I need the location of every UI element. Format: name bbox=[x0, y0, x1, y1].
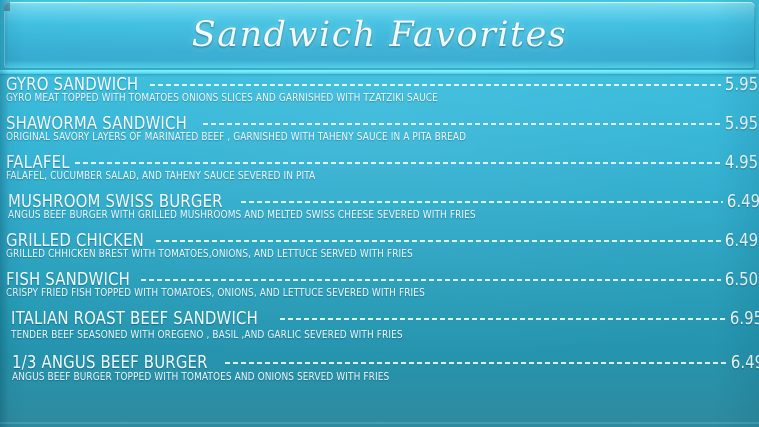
menu-item[interactable]: ITALIAN ROAST BEEF SANDWICH6.95TENDER BE… bbox=[0, 308, 759, 352]
dotted-leader bbox=[141, 275, 721, 285]
menu-item-price: 4.95 bbox=[724, 152, 758, 173]
menu-item[interactable]: MUSHROOM SWISS BURGER6.49ANGUS BEEF BURG… bbox=[0, 191, 759, 230]
menu-item[interactable]: GRILLED CHICKEN6.49GRILLED CHHICKEN BRES… bbox=[0, 230, 759, 269]
dotted-leader bbox=[203, 119, 721, 129]
dotted-leader bbox=[150, 80, 721, 90]
menu-item[interactable]: SHAWORMA SANDWICH5.95ORIGINAL SAVORY LAY… bbox=[0, 113, 759, 152]
menu-item-description: ANGUS BEEF BURGER TOPPED WITH TOMATOES A… bbox=[12, 371, 722, 383]
menu-item-price: 6.49 bbox=[726, 191, 759, 212]
dotted-leader bbox=[225, 358, 727, 368]
menu-item-price: 5.95 bbox=[724, 74, 758, 95]
menu-item[interactable]: 1/3 ANGUS BEEF BURGER6.49ANGUS BEEF BURG… bbox=[0, 352, 759, 394]
menu-board: Sandwich Favorites GYRO SANDWICH5.95GYRO… bbox=[0, 0, 759, 427]
menu-item-line: ITALIAN ROAST BEEF SANDWICH6.95 bbox=[11, 308, 759, 329]
menu-item-name: ITALIAN ROAST BEEF SANDWICH bbox=[11, 308, 258, 329]
menu-item-price: 6.50 bbox=[724, 269, 758, 290]
menu-item-description: TENDER BEEF SEASONED WITH OREGENO , BASI… bbox=[11, 329, 722, 341]
dotted-leader bbox=[241, 197, 723, 207]
bottom-edge-line bbox=[0, 422, 759, 424]
menu-item-price: 5.95 bbox=[724, 113, 758, 134]
dotted-leader bbox=[280, 314, 726, 324]
menu-item-list: GYRO SANDWICH5.95GYRO MEAT TOPPED WITH T… bbox=[0, 74, 759, 394]
menu-item-name: 1/3 ANGUS BEEF BURGER bbox=[12, 352, 208, 373]
menu-item-description: GYRO MEAT TOPPED WITH TOMATOES ONIONS SL… bbox=[6, 92, 721, 104]
dotted-leader bbox=[75, 158, 721, 168]
page-title: Sandwich Favorites bbox=[4, 2, 755, 68]
menu-item-price: 6.95 bbox=[729, 308, 759, 329]
dotted-leader bbox=[156, 236, 721, 246]
menu-item-description: FALAFEL, CUCUMBER SALAD, AND TAHENY SAUC… bbox=[6, 170, 721, 182]
menu-item-description: GRILLED CHHICKEN BREST WITH TOMATOES,ONI… bbox=[6, 248, 721, 260]
menu-header-panel: Sandwich Favorites bbox=[4, 2, 755, 68]
menu-item-price: 6.49 bbox=[724, 230, 758, 251]
menu-item[interactable]: FALAFEL4.95FALAFEL, CUCUMBER SALAD, AND … bbox=[0, 152, 759, 191]
menu-item-price: 6.49 bbox=[730, 352, 759, 373]
menu-item[interactable]: GYRO SANDWICH5.95GYRO MEAT TOPPED WITH T… bbox=[0, 74, 759, 113]
menu-item-description: CRISPY FRIED FISH TOPPED WITH TOMATOES, … bbox=[6, 287, 721, 299]
menu-item-description: ANGUS BEEF BURGER WITH GRILLED MUSHROOMS… bbox=[8, 209, 721, 221]
menu-item-line: 1/3 ANGUS BEEF BURGER6.49 bbox=[12, 352, 759, 373]
menu-item-description: ORIGINAL SAVORY LAYERS OF MARINATED BEEF… bbox=[6, 131, 721, 143]
menu-item[interactable]: FISH SANDWICH6.50CRISPY FRIED FISH TOPPE… bbox=[0, 269, 759, 308]
